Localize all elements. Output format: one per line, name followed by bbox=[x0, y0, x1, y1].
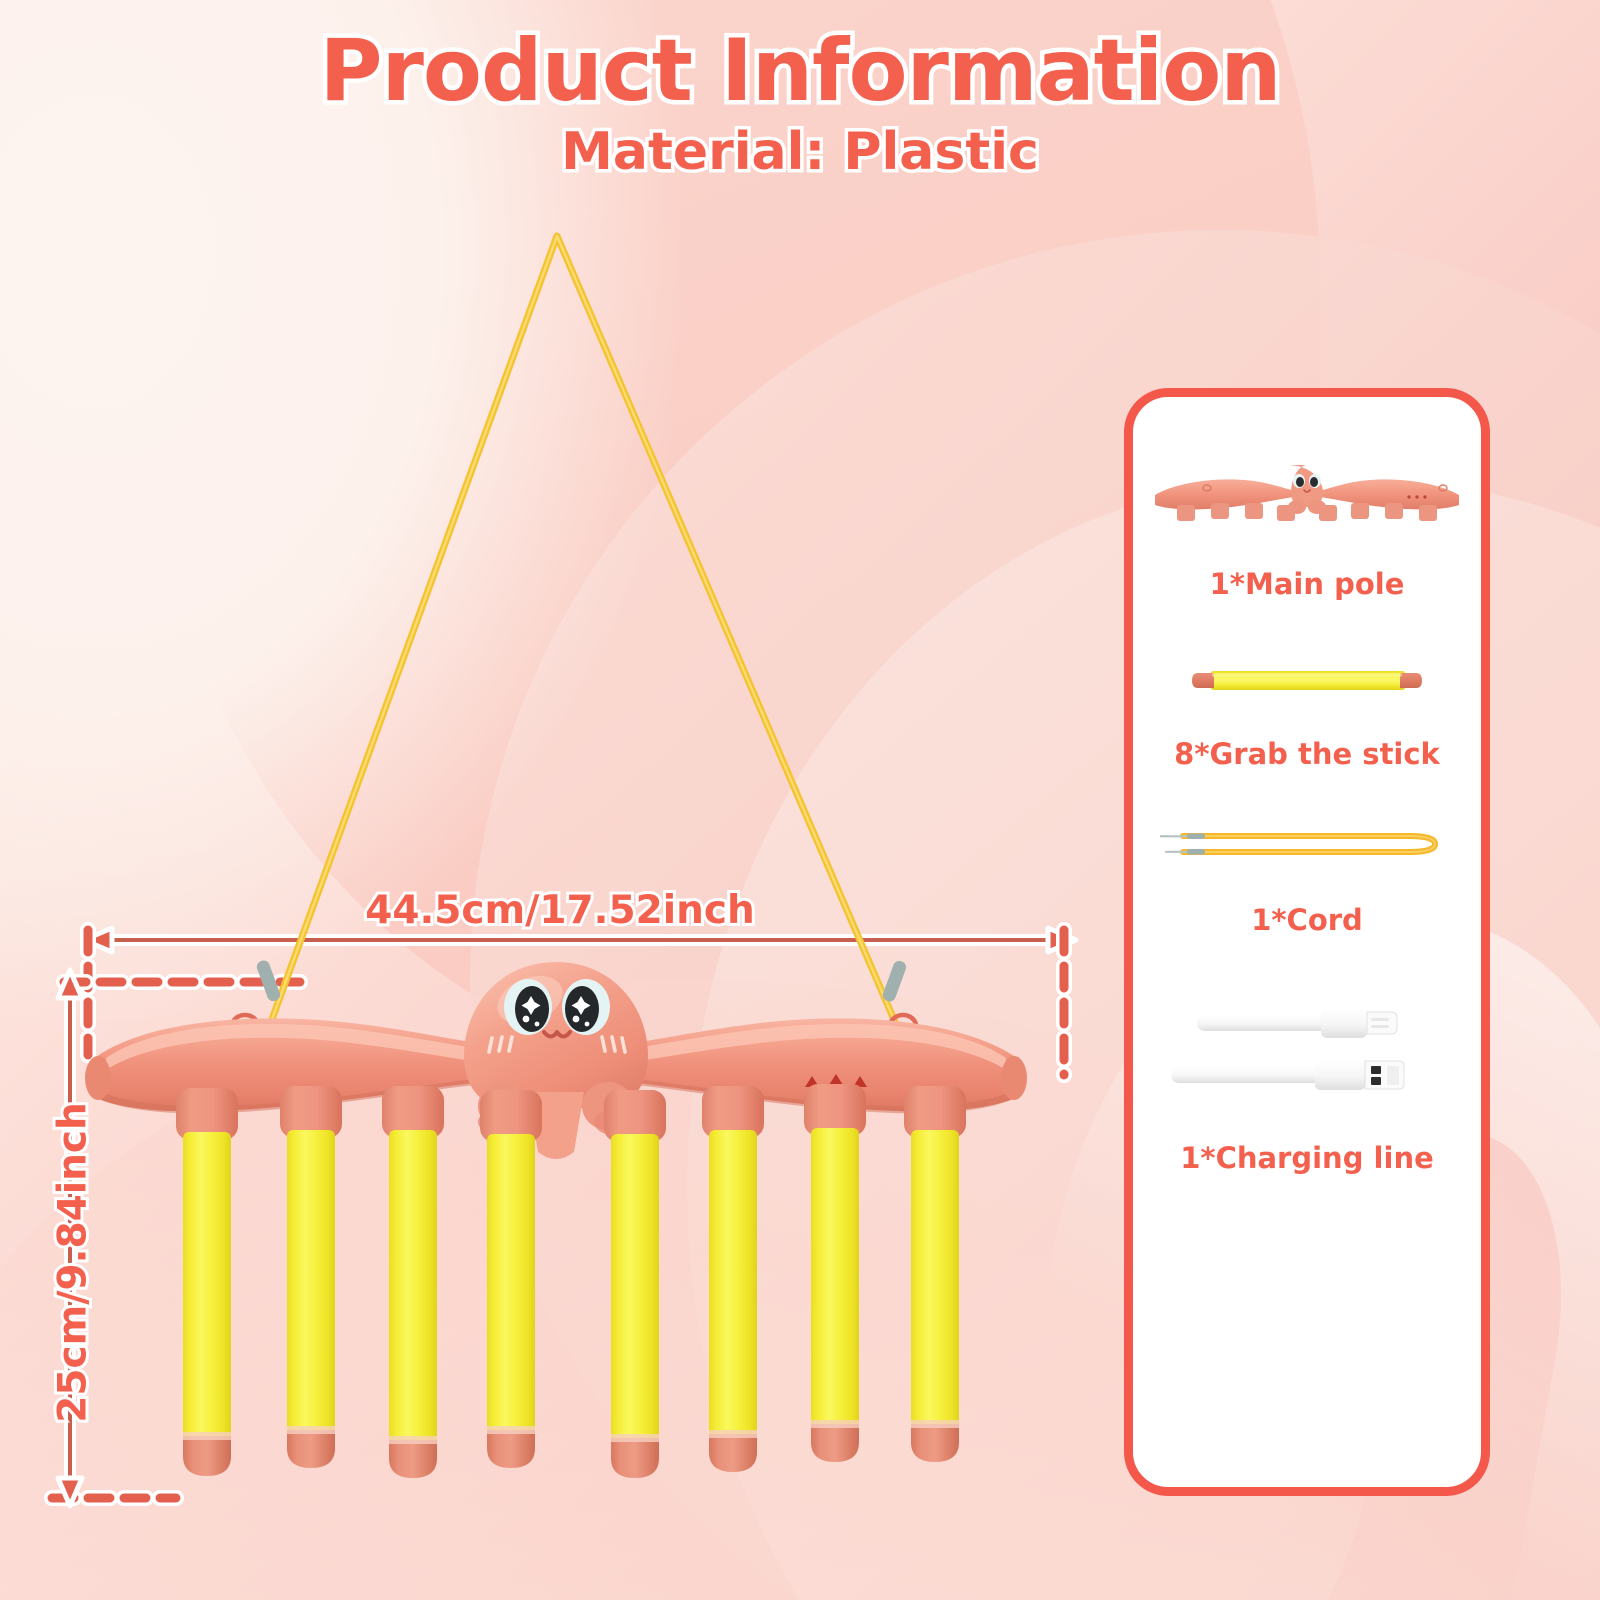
charging-line-thumbnail-icon bbox=[1157, 993, 1457, 1113]
grab-stick bbox=[709, 1130, 757, 1472]
grab-stick bbox=[811, 1128, 859, 1462]
grab-stick bbox=[389, 1130, 437, 1478]
part-label-main-pole: 1*Main pole bbox=[1210, 567, 1405, 601]
part-item-cord: 1*Cord bbox=[1133, 823, 1481, 937]
part-item-main-pole: 1*Main pole bbox=[1133, 455, 1481, 601]
grab-stick bbox=[183, 1132, 231, 1476]
header-block: Product Information Material: Plastic bbox=[0, 26, 1600, 182]
part-item-grab-stick: 8*Grab the stick bbox=[1133, 663, 1481, 771]
grab-stick-thumbnail-icon bbox=[1192, 663, 1422, 697]
width-dimension-label: 44.5cm/17.52inch bbox=[300, 888, 820, 933]
parts-list-card: 1*Main pole bbox=[1124, 388, 1490, 1496]
height-dimension-label: 25cm/9.84inch bbox=[51, 1098, 96, 1428]
grab-stick bbox=[487, 1134, 535, 1468]
cord-thumbnail-icon bbox=[1157, 823, 1457, 865]
page-title: Product Information bbox=[0, 26, 1600, 116]
infographic-canvas: Product Information Material: Plastic bbox=[0, 0, 1600, 1600]
part-label-grab-stick: 8*Grab the stick bbox=[1174, 737, 1440, 771]
main-pole-thumbnail-icon bbox=[1147, 455, 1467, 525]
grab-stick bbox=[911, 1130, 959, 1462]
material-subtitle: Material: Plastic bbox=[0, 122, 1600, 182]
grab-stick bbox=[287, 1130, 335, 1468]
product-illustration bbox=[0, 0, 1110, 1600]
grab-stick bbox=[611, 1134, 659, 1478]
part-label-charging-line: 1*Charging line bbox=[1180, 1141, 1434, 1175]
part-label-cord: 1*Cord bbox=[1251, 903, 1363, 937]
usb-c-connector bbox=[1197, 1008, 1397, 1038]
part-item-charging-line: 1*Charging line bbox=[1133, 993, 1481, 1175]
usb-a-connector bbox=[1171, 1060, 1404, 1090]
